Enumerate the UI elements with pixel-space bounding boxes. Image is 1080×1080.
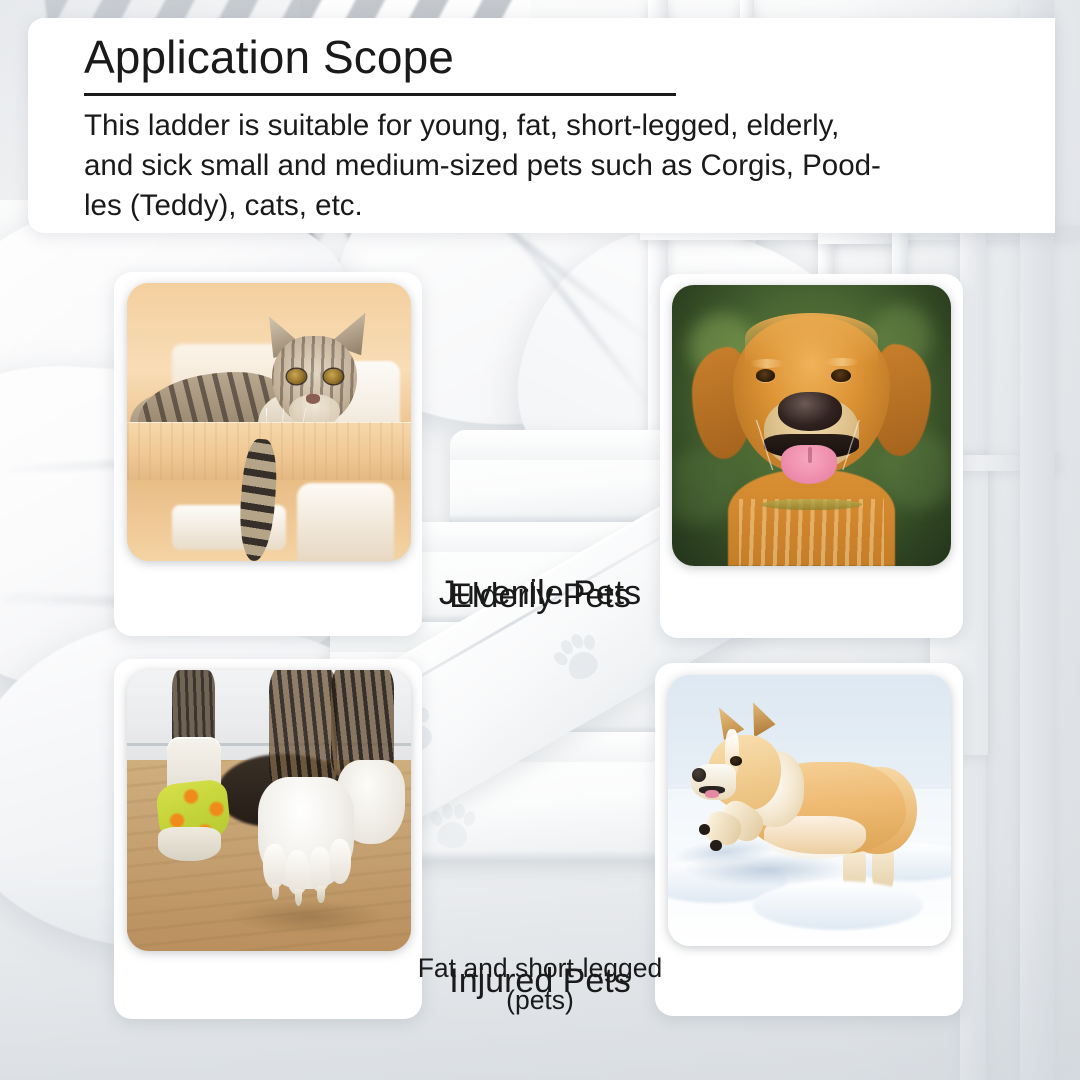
bandage-sun-motif [181,787,201,807]
bandaged-paws-image [127,670,411,951]
paw-toe [263,844,286,889]
paw-toe [329,839,352,884]
kitten-eye [287,369,305,384]
dog-leg [269,670,337,788]
dog-eye [756,369,776,382]
snow-drift [753,881,923,930]
paw-toe [286,850,309,895]
corgi-paw [710,840,721,851]
dog-collar [761,499,861,510]
corgi-in-snow-image [668,675,951,946]
juvenile-pets-photo [127,283,411,561]
golden-retriever-image [672,285,951,566]
corgi-eye [730,756,742,765]
paw-claw [317,886,324,903]
injured-pets-photo [127,670,411,951]
dog-whiskers [745,420,879,471]
paw-print-icon [543,624,614,695]
header-panel: Application Scope This ladder is suitabl… [28,18,1055,233]
dog-brow [750,359,783,367]
title-divider [84,93,676,96]
corgi-tongue [705,790,719,798]
floor-shadow [229,900,388,934]
infographic-canvas: Application Scope This ladder is suitabl… [0,0,1080,1080]
header-description: This ladder is suitable for young, fat, … [84,106,1025,226]
kitten-eye [324,369,342,384]
elderly-pets-photo [672,285,951,566]
kitten-on-wooden-step-image [127,283,411,561]
bandage-toe-wrap [158,827,220,861]
dog-eye [831,369,851,382]
card-label-fat-short-legged-pets: Fat and short-legged (pets) [0,953,1080,1017]
card-label-elderly-pets: Elderly Pets [0,578,1080,615]
page-title: Application Scope [84,30,1025,84]
paw-claw [295,889,302,906]
fat-short-legged-pets-photo [668,675,951,946]
bandage-sun-motif [207,799,227,819]
dog-forehead [745,313,879,364]
blurred-white-object [297,483,394,561]
